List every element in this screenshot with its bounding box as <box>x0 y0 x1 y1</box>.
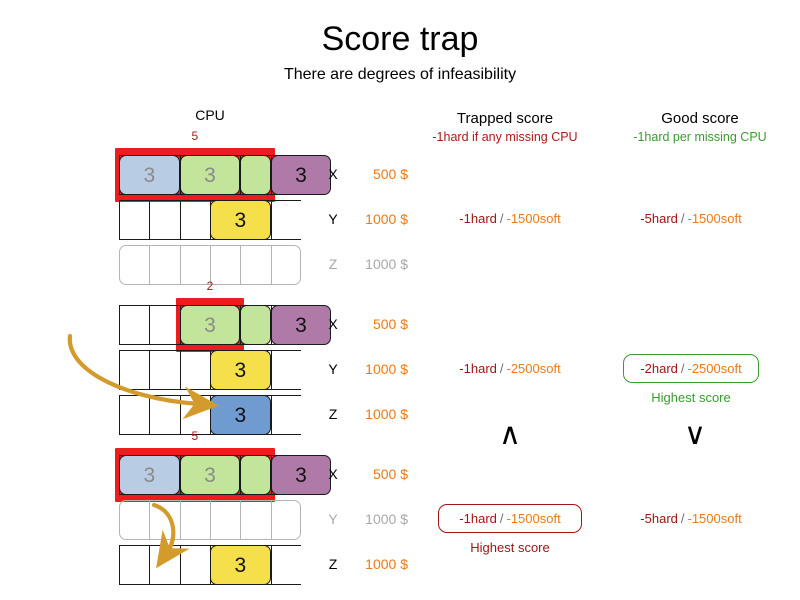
process-block[interactable]: 3 <box>271 155 332 195</box>
cpu-slot-cell[interactable] <box>180 200 210 240</box>
machine-name: Z <box>325 556 341 572</box>
cpu-slot-grid <box>119 500 301 540</box>
cpu-capacity-value: 5 <box>115 129 275 143</box>
process-block[interactable]: 3 <box>119 155 180 195</box>
cpu-slot-cell[interactable] <box>240 500 270 540</box>
cpu-slot-cell[interactable] <box>149 305 179 345</box>
machine-row: 333X500 $ <box>0 455 800 495</box>
process-block[interactable]: 3 <box>210 350 271 390</box>
caret-up-icon: ∧ <box>455 420 565 450</box>
machine-name: X <box>325 166 341 182</box>
machine-row: 333X500 $ <box>0 155 800 195</box>
process-block[interactable]: 3 <box>210 200 271 240</box>
process-cpu-value: 3 <box>234 405 246 426</box>
cpu-slot-cell[interactable] <box>271 200 301 240</box>
cpu-column-header: CPU <box>119 107 301 123</box>
good-score-value: -5hard/-1500soft <box>605 211 777 226</box>
trapped-score-value: -1hard/-2500soft <box>420 361 600 376</box>
process-cpu-value: 3 <box>234 360 246 381</box>
cpu-slot-cell[interactable] <box>119 200 149 240</box>
cpu-slot-cell[interactable] <box>149 500 179 540</box>
hard-score: -1hard <box>459 361 497 376</box>
machine-row: 33X500 $ <box>0 305 800 345</box>
score-separator: / <box>678 361 688 376</box>
good-score-rule: -1hard per missing CPU <box>600 130 800 144</box>
page-subtitle: There are degrees of infeasibility <box>0 66 800 84</box>
machine-name: Z <box>325 406 341 422</box>
process-cpu-value: 3 <box>143 465 155 486</box>
soft-score: -2500soft <box>688 361 742 376</box>
cpu-slot-cell[interactable] <box>240 245 270 285</box>
trapped-score-column-header: Trapped score -1hard if any missing CPU <box>400 110 610 144</box>
hard-score: -5hard <box>640 511 678 526</box>
process-block[interactable] <box>240 455 270 495</box>
cpu-slot-cell[interactable] <box>271 545 301 585</box>
page-title: Score trap <box>0 20 800 59</box>
cpu-slot-cell[interactable] <box>149 545 179 585</box>
score-separator: / <box>497 211 507 226</box>
hard-score: -1hard <box>459 211 497 226</box>
caret-down-icon: ∨ <box>640 420 750 450</box>
score-separator: / <box>678 211 688 226</box>
cpu-slot-cell[interactable] <box>119 500 149 540</box>
machine-name: X <box>325 316 341 332</box>
good-score-value: -2hard/-2500soft <box>623 354 759 383</box>
cpu-slot-cell[interactable] <box>119 305 149 345</box>
process-cpu-value: 3 <box>234 210 246 231</box>
cpu-slot-cell[interactable] <box>271 395 301 435</box>
cpu-slot-cell[interactable] <box>119 245 149 285</box>
cpu-slot-cell[interactable] <box>271 350 301 390</box>
process-block[interactable]: 3 <box>119 455 180 495</box>
trapped-score-value: -1hard/-1500soft <box>438 504 582 533</box>
machine-name: Y <box>325 361 341 377</box>
process-cpu-value: 3 <box>204 165 216 186</box>
score-separator: / <box>678 511 688 526</box>
score-separator: / <box>497 511 507 526</box>
good-score-column-header: Good score -1hard per missing CPU <box>600 110 800 144</box>
hard-score: -5hard <box>640 211 678 226</box>
soft-score: -1500soft <box>688 211 742 226</box>
process-cpu-value: 3 <box>234 555 246 576</box>
cpu-slot-cell[interactable] <box>210 500 240 540</box>
process-cpu-value: 3 <box>143 165 155 186</box>
machine-cost: 1000 $ <box>346 511 408 527</box>
process-block[interactable]: 3 <box>180 155 241 195</box>
trapped-score-title: Trapped score <box>457 110 553 127</box>
process-block[interactable]: 3 <box>180 305 241 345</box>
process-cpu-value: 3 <box>295 165 307 186</box>
trapped-score-value: -1hard/-1500soft <box>420 211 600 226</box>
machine-cost: 1000 $ <box>346 556 408 572</box>
cpu-slot-cell[interactable] <box>119 545 149 585</box>
machine-name: X <box>325 466 341 482</box>
score-separator: / <box>497 361 507 376</box>
hard-score: -2hard <box>640 361 678 376</box>
trapped-score-rule: -1hard if any missing CPU <box>400 130 610 144</box>
machine-cost: 500 $ <box>346 466 408 482</box>
cpu-slot-cell[interactable] <box>180 500 210 540</box>
cpu-slot-cell[interactable] <box>180 545 210 585</box>
machine-cost: 1000 $ <box>346 211 408 227</box>
highest-score-label: Highest score <box>605 390 777 405</box>
process-block[interactable]: 3 <box>210 545 271 585</box>
process-cpu-value: 3 <box>295 315 307 336</box>
highest-score-label: Highest score <box>420 540 600 555</box>
process-cpu-value: 3 <box>204 315 216 336</box>
machine-name: Z <box>325 256 341 272</box>
good-score-value: -5hard/-1500soft <box>605 511 777 526</box>
process-cpu-value: 3 <box>295 465 307 486</box>
cpu-slot-cell[interactable] <box>149 350 179 390</box>
cpu-capacity-value: 2 <box>176 279 245 293</box>
soft-score: -1500soft <box>688 511 742 526</box>
process-block[interactable]: 3 <box>271 455 332 495</box>
machine-row: Z1000 $ <box>0 245 800 285</box>
process-block[interactable]: 3 <box>271 305 332 345</box>
machine-name: Y <box>325 211 341 227</box>
machine-name: Y <box>325 511 341 527</box>
cpu-slot-cell[interactable] <box>119 350 149 390</box>
good-score-title: Good score <box>661 110 739 127</box>
cpu-slot-cell[interactable] <box>149 200 179 240</box>
cpu-slot-cell[interactable] <box>271 500 301 540</box>
hard-score: -1hard <box>459 511 497 526</box>
process-block[interactable]: 3 <box>180 455 241 495</box>
process-block[interactable] <box>240 305 270 345</box>
machine-cost: 1000 $ <box>346 406 408 422</box>
soft-score: -1500soft <box>507 511 561 526</box>
machine-cost: 500 $ <box>346 166 408 182</box>
process-cpu-value: 3 <box>204 465 216 486</box>
machine-cost: 1000 $ <box>346 256 408 272</box>
cpu-slot-cell[interactable] <box>271 245 301 285</box>
soft-score: -2500soft <box>507 361 561 376</box>
soft-score: -1500soft <box>507 211 561 226</box>
machine-cost: 500 $ <box>346 316 408 332</box>
process-block[interactable] <box>240 155 270 195</box>
machine-row: 3Z1000 $ <box>0 545 800 585</box>
machine-cost: 1000 $ <box>346 361 408 377</box>
cpu-slot-cell[interactable] <box>180 350 210 390</box>
cpu-capacity-value: 5 <box>115 429 275 443</box>
